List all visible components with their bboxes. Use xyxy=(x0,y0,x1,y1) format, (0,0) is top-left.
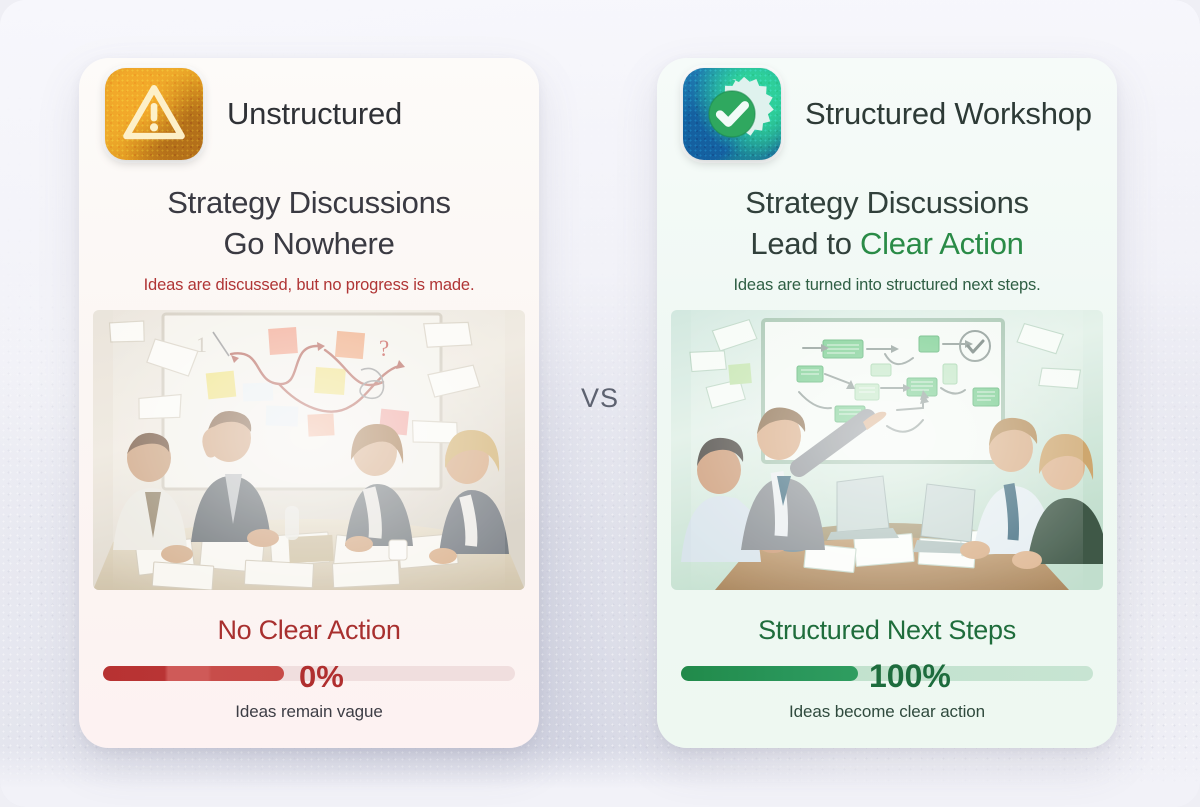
subline-right: Ideas are turned into structured next st… xyxy=(657,264,1117,295)
card-header-right: Structured Workshop xyxy=(657,58,1117,170)
foot-note-left: Ideas remain vague xyxy=(79,702,539,722)
warning-triangle-icon xyxy=(105,68,203,160)
progress-label-left: 0% xyxy=(299,661,344,692)
card-title-right: Structured Workshop xyxy=(805,96,1092,132)
progress-bar-left[interactable]: 0% xyxy=(103,660,515,686)
card-title-left: Unstructured xyxy=(227,96,402,132)
foot-note-right: Ideas become clear action xyxy=(657,702,1117,722)
card-unstructured[interactable]: Unstructured Strategy Discussions Go Now… xyxy=(79,58,539,748)
foot-title-left: No Clear Action xyxy=(79,615,539,646)
comparison-graphic: Unstructured Strategy Discussions Go Now… xyxy=(0,0,1200,807)
foot-title-right: Structured Next Steps xyxy=(657,615,1117,646)
headline-line1-right: Strategy Discussions xyxy=(677,182,1097,223)
progress-bar-right[interactable]: 100% xyxy=(681,660,1093,686)
illustration-unstructured: ? 1 xyxy=(93,310,525,590)
card-header-left: Unstructured xyxy=(79,58,539,170)
headline-line2-left: Go Nowhere xyxy=(99,223,519,264)
headline-accent-right: Clear Action xyxy=(860,226,1024,261)
subline-left: Ideas are discussed, but no progress is … xyxy=(79,264,539,295)
progress-fill-right xyxy=(681,666,858,681)
headline-left: Strategy Discussions Go Nowhere xyxy=(79,170,539,264)
vs-divider-label: VS xyxy=(556,383,644,414)
card-structured[interactable]: Structured Workshop Strategy Discussions… xyxy=(657,58,1117,748)
progress-fill-left xyxy=(103,666,284,681)
headline-right: Strategy Discussions Lead to Clear Actio… xyxy=(657,170,1117,264)
card-footer-left: No Clear Action 0% Ideas remain vague xyxy=(79,615,539,748)
card-footer-right: Structured Next Steps 100% Ideas become … xyxy=(657,615,1117,748)
illustration-structured xyxy=(671,310,1103,590)
headline-line1-left: Strategy Discussions xyxy=(99,182,519,223)
headline-line2-prefix-right: Lead to xyxy=(750,226,860,261)
progress-label-right: 100% xyxy=(869,660,951,692)
gear-check-icon xyxy=(683,68,781,160)
headline-line2-right: Lead to Clear Action xyxy=(677,223,1097,264)
